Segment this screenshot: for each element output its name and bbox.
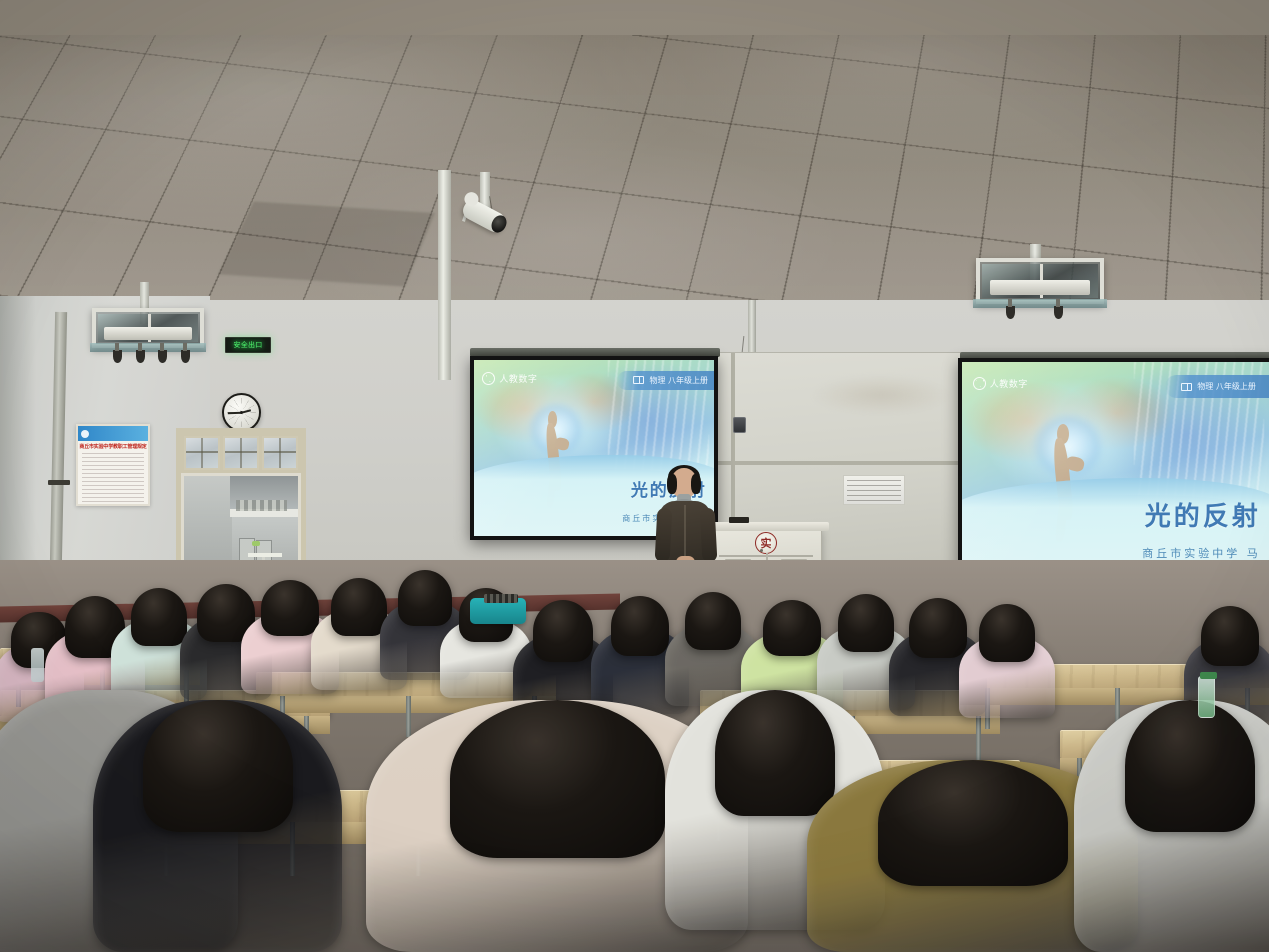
student-hair	[838, 594, 894, 652]
posted-paper-notice	[843, 475, 905, 505]
bag-contents	[484, 594, 518, 603]
student-hair	[979, 604, 1035, 662]
teacher-hair-side	[667, 474, 677, 494]
wall-outlet[interactable]	[733, 417, 746, 433]
pep-digital-logo-icon	[482, 372, 495, 385]
pipe-clamp	[48, 480, 70, 485]
green-water-bottle	[1198, 676, 1215, 718]
book-icon	[633, 376, 644, 384]
student-hair	[763, 600, 821, 656]
pep-digital-logo-icon	[973, 377, 986, 390]
student-hair	[909, 598, 967, 658]
projector-mount-foot	[136, 350, 145, 363]
school-emblem: 实	[755, 532, 777, 554]
transom-window-row	[181, 433, 301, 473]
slide-brand-logo-left: 人教数字	[482, 372, 537, 385]
projector-shelf-right	[973, 299, 1107, 308]
screen-hanger-pipe	[748, 300, 756, 352]
teacher-arm-right	[700, 508, 718, 563]
student-hair	[261, 580, 319, 636]
slide-brand-logo-right: 人教数字	[973, 377, 1028, 390]
slide-subtitle-right: 商丘市实验中学 马	[1142, 545, 1261, 561]
podium-device	[729, 517, 749, 523]
ceiling-access-panel	[218, 201, 435, 286]
adjacent-room-wall	[184, 476, 232, 568]
book-icon	[1181, 383, 1192, 391]
podium-indicator	[760, 549, 763, 552]
student-hair	[878, 760, 1068, 886]
side-doorway[interactable]	[176, 428, 306, 573]
student-hair	[1125, 700, 1255, 832]
slide-logo-text: 人教数字	[499, 372, 537, 385]
student-hair	[398, 570, 452, 626]
ceiling-projector-right	[976, 258, 1104, 304]
teacher-hair-side	[691, 474, 701, 494]
adjacent-room-items	[236, 500, 286, 511]
camera-mast	[438, 170, 451, 380]
projector-mount-foot	[113, 350, 122, 363]
student-row2-pinkc	[966, 604, 1048, 718]
projector-body-left	[104, 327, 191, 340]
student-hair	[715, 690, 835, 816]
podium-top-surface	[705, 522, 829, 531]
screen-surface-right: 人教数字 物理 八年级上册 光的反射 商丘市实验中学 马	[962, 362, 1269, 576]
bottle-cap	[1200, 672, 1217, 679]
student-front-black-left	[110, 700, 325, 952]
poster-title: 商丘市实验中学教职工管理规定	[78, 443, 148, 450]
student-front-right-grey	[1090, 700, 1269, 952]
student-hair	[143, 700, 293, 832]
projection-screen-right: 人教数字 物理 八年级上册 光的反射 商丘市实验中学 马	[958, 358, 1269, 580]
transom-pane	[184, 436, 220, 470]
exit-sign-label: 安全出口	[233, 340, 262, 350]
teacher-arm-left	[655, 508, 673, 563]
clear-water-bottle	[31, 648, 44, 682]
emergency-exit-sign: 安全出口	[225, 337, 271, 353]
student-hair	[685, 592, 741, 650]
adjacent-room-table	[248, 553, 282, 557]
whiteboard-smudge	[811, 375, 951, 415]
student-hair	[611, 596, 669, 656]
student-hair	[331, 578, 387, 636]
poster-body-text	[82, 453, 144, 506]
desk-leg	[976, 716, 981, 760]
classroom-photo: 安全出口 商丘市实验中学教职工管理规定	[0, 0, 1269, 952]
wall-clock	[222, 393, 261, 432]
slide-subject-text: 物理 八年级上册	[649, 375, 708, 386]
student-hair	[450, 700, 665, 858]
wall-poster: 商丘市实验中学教职工管理规定	[76, 424, 150, 506]
transom-pane	[223, 436, 259, 470]
student-hair	[131, 588, 187, 646]
whiteboard-seam	[691, 461, 979, 465]
slide-title-right: 光的反射	[1145, 496, 1261, 533]
poster-header-band	[78, 426, 148, 441]
transom-pane	[262, 436, 298, 470]
ceiling-projector-left	[92, 308, 204, 348]
slide-subject-chip-right: 物理 八年级上册	[1165, 375, 1269, 399]
student-hair	[533, 600, 593, 662]
adjacent-room-plant	[252, 541, 260, 546]
slide-subject-chip-left: 物理 八年级上册	[617, 371, 714, 390]
student-hair	[1201, 606, 1259, 666]
student-front-olive	[830, 760, 1115, 952]
doorway-opening	[184, 476, 298, 568]
slide-logo-text: 人教数字	[990, 377, 1028, 390]
poster-logo-icon	[81, 430, 89, 438]
projector-body-right	[990, 280, 1091, 296]
slide-subject-text: 物理 八年级上册	[1197, 381, 1256, 392]
